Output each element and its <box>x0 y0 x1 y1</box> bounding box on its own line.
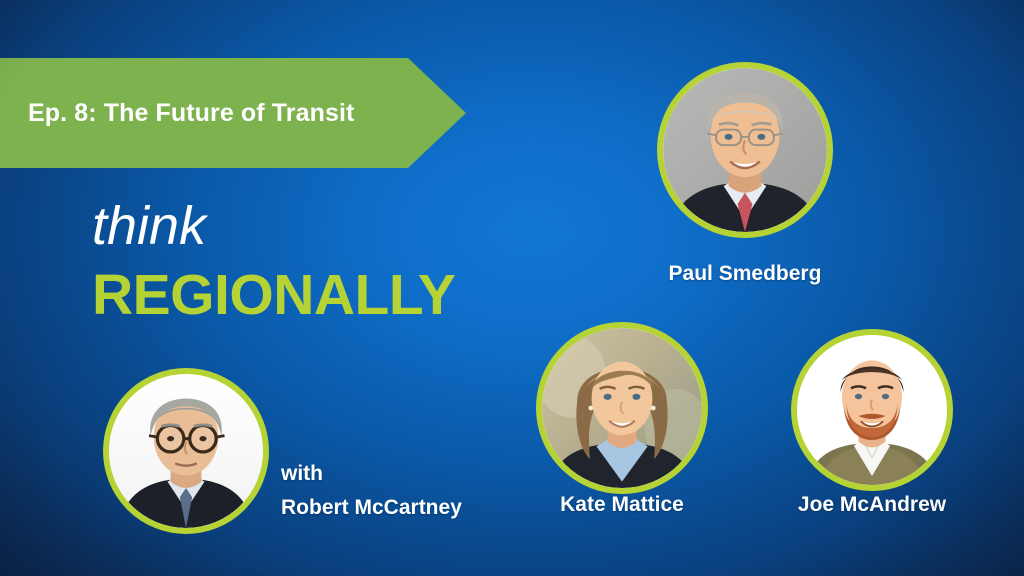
host-prefix: with <box>281 457 462 491</box>
avatar-paul-smedberg <box>657 62 833 238</box>
avatar-robert-mccartney <box>103 368 269 534</box>
avatar-joe-mcandrew <box>791 329 953 491</box>
episode-banner: Ep. 8: The Future of Transit <box>0 58 466 168</box>
portrait-image-paul-smedberg <box>663 68 827 232</box>
guest-name-kate-mattice: Kate Mattice <box>536 493 708 517</box>
brand-logo: think REGIONALLY <box>92 196 455 326</box>
guest-name-paul-smedberg: Paul Smedberg <box>657 262 833 286</box>
guest-name-joe-mcandrew: Joe McAndrew <box>791 493 953 517</box>
portrait-image-kate-mattice <box>542 328 702 488</box>
portrait-image-joe-mcandrew <box>797 335 947 485</box>
brand-line-regionally: REGIONALLY <box>92 264 455 326</box>
host-name: Robert McCartney <box>281 491 462 525</box>
avatar-kate-mattice <box>536 322 708 494</box>
brand-line-think: think <box>92 196 455 256</box>
podcast-title-slide: Ep. 8: The Future of Transit think REGIO… <box>0 0 1024 576</box>
portrait-image-robert-mccartney <box>109 374 263 528</box>
host-caption: with Robert McCartney <box>281 457 462 525</box>
episode-banner-label: Ep. 8: The Future of Transit <box>0 99 354 128</box>
